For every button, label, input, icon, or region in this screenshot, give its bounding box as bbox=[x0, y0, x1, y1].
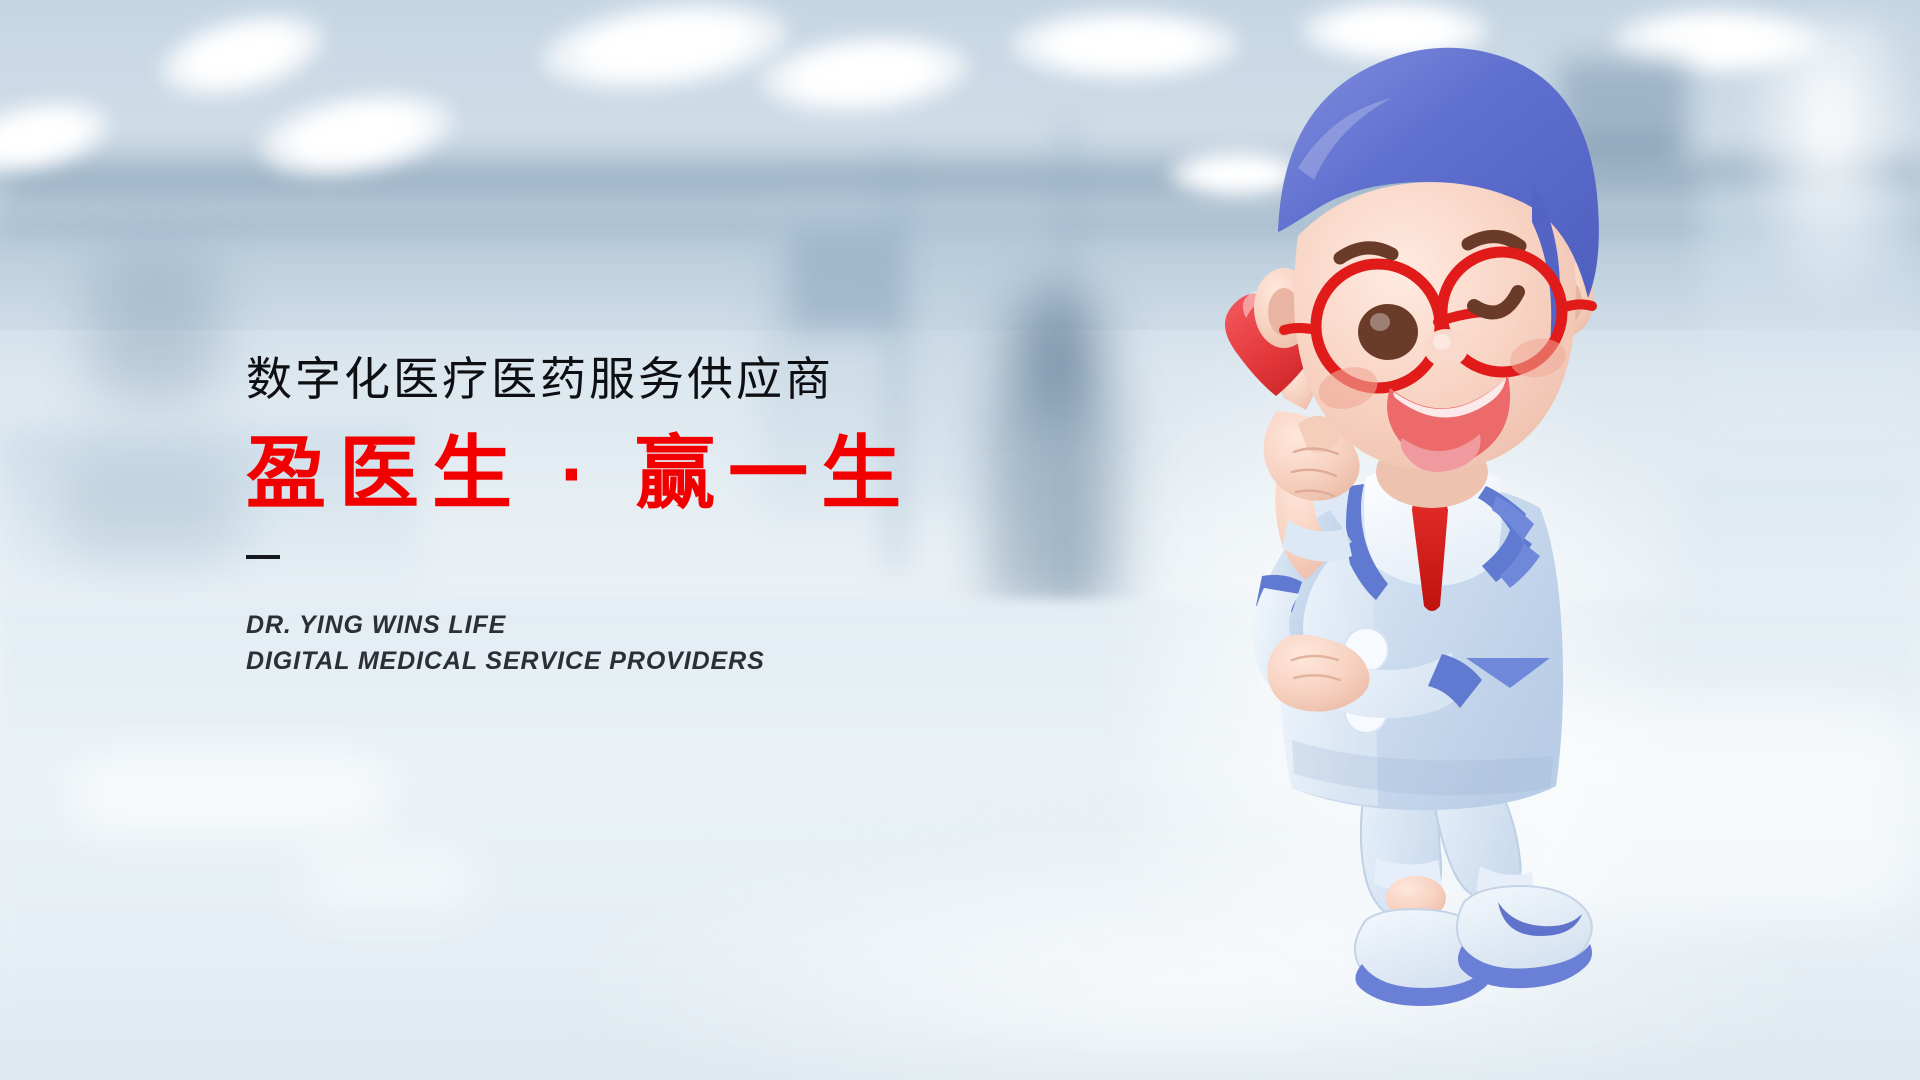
english-line-1: DR. YING WINS LIFE bbox=[246, 607, 914, 643]
english-line-2: DIGITAL MEDICAL SERVICE PROVIDERS bbox=[246, 643, 914, 679]
divider-rule bbox=[246, 555, 280, 559]
background-equipment-blur bbox=[60, 450, 240, 560]
floor-highlight bbox=[70, 760, 390, 830]
hero-text-block: 数字化医疗医药服务供应商 盈医生 · 赢一生 DR. YING WINS LIF… bbox=[246, 352, 914, 679]
english-subtitle-block: DR. YING WINS LIFE DIGITAL MEDICAL SERVI… bbox=[246, 607, 914, 679]
hero-banner: 数字化医疗医药服务供应商 盈医生 · 赢一生 DR. YING WINS LIF… bbox=[0, 0, 1920, 1080]
mascot-lab-coat bbox=[1277, 460, 1563, 810]
kicker-text: 数字化医疗医药服务供应商 bbox=[246, 352, 914, 406]
background-window-glow bbox=[1740, 20, 1920, 320]
background-person-silhouette-secondary bbox=[90, 250, 220, 400]
page-title: 盈医生 · 赢一生 bbox=[246, 428, 914, 519]
mascot-open-eye bbox=[1358, 304, 1418, 360]
background-person-silhouette bbox=[990, 380, 1120, 610]
floor-highlight bbox=[300, 850, 480, 910]
doctor-mascot bbox=[1180, 40, 1640, 1050]
background-monitor bbox=[790, 230, 900, 330]
